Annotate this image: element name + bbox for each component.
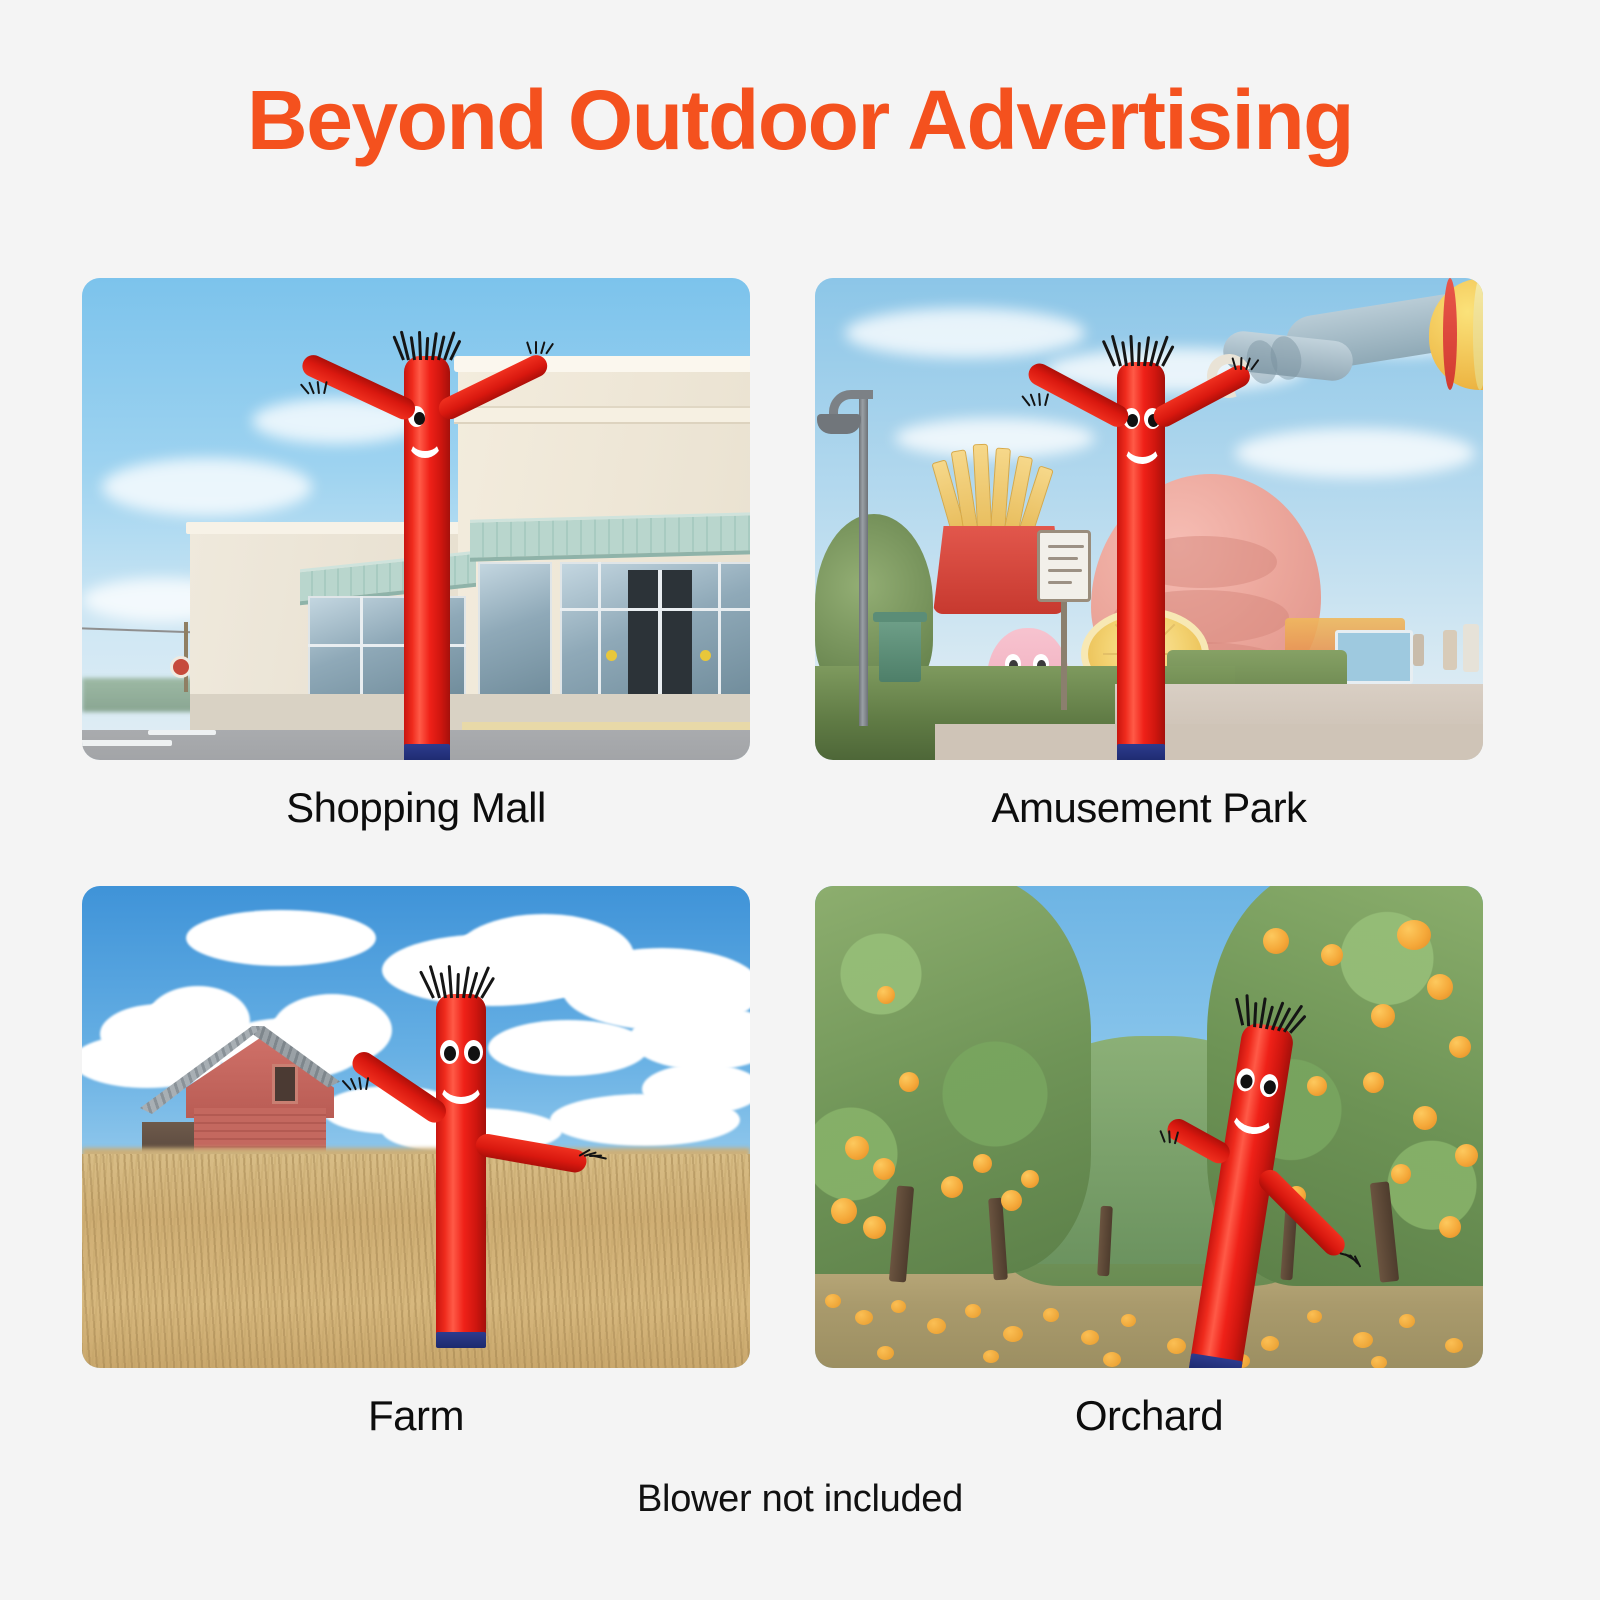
trash-bin-lid bbox=[873, 612, 927, 622]
barn-window bbox=[272, 1064, 298, 1104]
tube-hand-left bbox=[306, 376, 332, 394]
tube-hair bbox=[430, 964, 492, 998]
window-mullion bbox=[718, 562, 721, 704]
orange-fruit bbox=[1455, 1144, 1478, 1167]
caption-amusement-park: Amusement Park bbox=[815, 784, 1483, 832]
park-visitor bbox=[1413, 634, 1424, 666]
orange-fruit bbox=[1397, 920, 1431, 950]
park-visitor bbox=[1443, 630, 1457, 670]
tube-arm-right bbox=[474, 1132, 588, 1174]
tube-hand-right bbox=[1233, 352, 1259, 370]
caption-farm: Farm bbox=[82, 1392, 750, 1440]
tube-hand-right bbox=[1337, 1235, 1365, 1257]
tree-canopy-left bbox=[815, 886, 1091, 1274]
inflatable-tube-man bbox=[328, 310, 528, 760]
cloud bbox=[102, 458, 312, 516]
cloud bbox=[1235, 428, 1475, 478]
door-decal bbox=[700, 650, 711, 661]
fallen-orange bbox=[927, 1318, 946, 1334]
orange-fruit bbox=[1001, 1190, 1022, 1211]
door-mullion bbox=[658, 570, 662, 704]
panel-shopping-mall: Shopping Mall bbox=[82, 278, 750, 832]
fallen-orange bbox=[1003, 1326, 1023, 1342]
tube-hair bbox=[1111, 334, 1171, 366]
orange-fruit bbox=[1439, 1216, 1461, 1238]
parking-stripe bbox=[148, 730, 216, 735]
caption-shopping-mall: Shopping Mall bbox=[82, 784, 750, 832]
orange-fruit bbox=[831, 1198, 857, 1224]
photo-amusement-park bbox=[815, 278, 1483, 760]
orange-fruit bbox=[973, 1154, 992, 1173]
orange-fruit bbox=[1321, 944, 1343, 966]
tube-pupil-left bbox=[414, 412, 425, 425]
parking-stripe bbox=[82, 740, 172, 746]
orange-fruit bbox=[873, 1158, 895, 1180]
orange-fruit bbox=[877, 986, 895, 1004]
photo-farm bbox=[82, 886, 750, 1368]
caption-orchard: Orchard bbox=[815, 1392, 1483, 1440]
orange-fruit bbox=[1263, 928, 1289, 954]
tube-arm-right bbox=[1255, 1165, 1350, 1260]
orange-fruit bbox=[1427, 974, 1453, 1000]
fallen-orange bbox=[1371, 1356, 1387, 1368]
panel-orchard: Orchard bbox=[815, 886, 1483, 1440]
tube-hair bbox=[400, 330, 456, 360]
window-mullion bbox=[560, 608, 750, 611]
tube-hand-left bbox=[348, 1072, 374, 1090]
cloud bbox=[642, 1064, 750, 1114]
tube-pupil-left bbox=[444, 1046, 456, 1061]
inflatable-tube-man bbox=[1041, 314, 1261, 760]
fallen-orange bbox=[825, 1294, 841, 1308]
orange-fruit bbox=[1449, 1036, 1471, 1058]
street-lamp-head bbox=[817, 414, 861, 434]
stop-sign bbox=[170, 656, 192, 678]
panel-amusement-park: Amusement Park bbox=[815, 278, 1483, 832]
window-mullion bbox=[598, 562, 601, 704]
door-decal bbox=[606, 650, 617, 661]
orange-fruit bbox=[899, 1072, 919, 1092]
tube-base-cuff bbox=[436, 1332, 486, 1348]
orange-fruit bbox=[1021, 1170, 1039, 1188]
fallen-orange bbox=[1399, 1314, 1415, 1328]
tube-base-cuff bbox=[404, 744, 450, 760]
page-title: Beyond Outdoor Advertising bbox=[0, 78, 1600, 162]
tube-arm-right bbox=[1150, 362, 1254, 431]
tube-hand-left bbox=[1162, 1126, 1186, 1145]
fallen-orange bbox=[855, 1310, 873, 1325]
trash-bin bbox=[879, 618, 921, 682]
tube-hand-right bbox=[576, 1138, 602, 1156]
tube-hand-right bbox=[528, 336, 554, 354]
fallen-orange bbox=[891, 1300, 906, 1313]
tube-pupil-right bbox=[468, 1046, 480, 1061]
fallen-orange bbox=[983, 1350, 999, 1363]
park-visitor bbox=[1463, 624, 1479, 672]
street-lamp-pole bbox=[859, 396, 868, 726]
fallen-orange bbox=[1043, 1308, 1059, 1322]
photo-shopping-mall bbox=[82, 278, 750, 760]
orange-fruit bbox=[1391, 1164, 1411, 1184]
fallen-orange bbox=[1445, 1338, 1463, 1353]
tube-hand-left bbox=[1027, 388, 1053, 406]
photo-orchard bbox=[815, 886, 1483, 1368]
footnote-blower-not-included: Blower not included bbox=[0, 1478, 1600, 1521]
tube-base-cuff bbox=[1117, 744, 1165, 760]
fallen-orange bbox=[877, 1346, 894, 1360]
orange-fruit bbox=[1413, 1106, 1437, 1130]
orange-fruit bbox=[863, 1216, 886, 1239]
orange-fruit bbox=[845, 1136, 869, 1160]
fallen-orange bbox=[965, 1304, 981, 1318]
inflatable-tube-man bbox=[334, 948, 594, 1368]
panel-farm: Farm bbox=[82, 886, 750, 1440]
orange-fruit bbox=[941, 1176, 963, 1198]
